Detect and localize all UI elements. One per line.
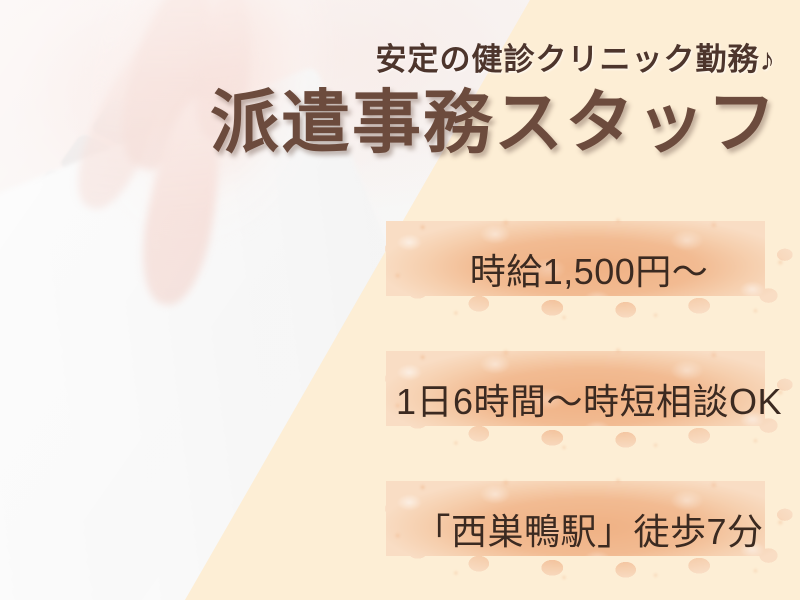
job-advert-banner: ほ ゛ ゜ む へ ー や ま み も ね る さ き く ま つ の bbox=[0, 0, 800, 600]
banner-headline: 派遣事務スタッフ bbox=[0, 86, 778, 161]
badge-station-access: 「西巣鴨駅」徒歩7分 bbox=[385, 478, 793, 580]
badge-label: 1日6時間〜時短相談OK bbox=[396, 373, 782, 425]
badge-working-hours: 1日6時間〜時短相談OK bbox=[385, 348, 793, 450]
badge-label: 時給1,500円〜 bbox=[470, 243, 709, 295]
badge-hourly-wage: 時給1,500円〜 bbox=[385, 218, 793, 320]
badge-label: 「西巣鴨駅」徒歩7分 bbox=[414, 503, 763, 555]
banner-subtitle: 安定の健診クリニック勤務♪ bbox=[0, 34, 776, 79]
